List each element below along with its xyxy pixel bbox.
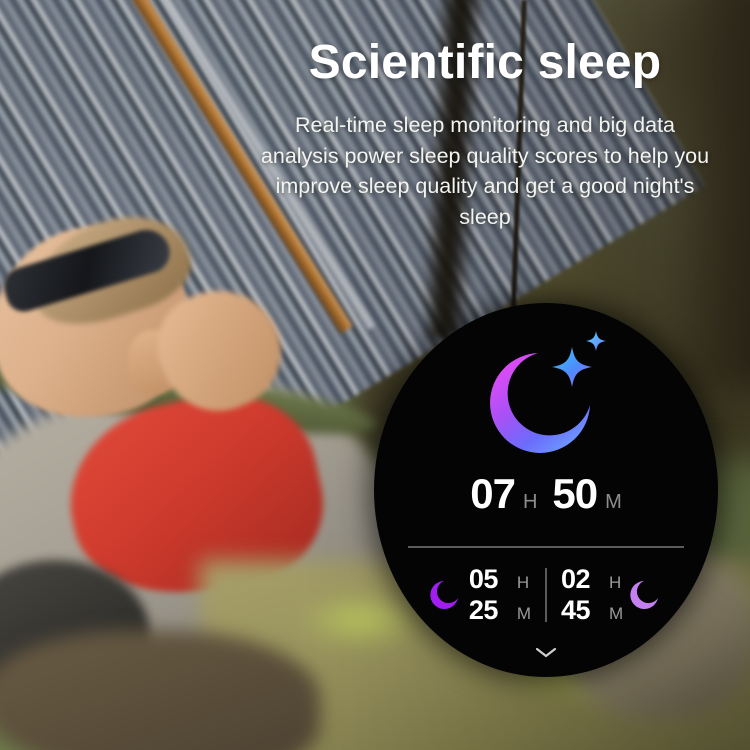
- total-sleep-hours-value: 07: [470, 473, 515, 515]
- deep-sleep-hours-unit: H: [517, 574, 529, 592]
- light-sleep-hours-line: 02 H: [561, 565, 623, 594]
- crescent-moon-with-sparkles-icon: [478, 331, 614, 457]
- light-sleep-values: 02 H 45 M: [561, 565, 623, 625]
- sleep-breakdown: 05 H 25 M 02 H: [374, 565, 718, 625]
- deep-sleep-minutes-value: 25: [469, 596, 511, 625]
- light-sleep-minutes-unit: M: [609, 605, 623, 623]
- deep-sleep-values: 05 H 25 M: [469, 565, 531, 625]
- light-sleep-hours-unit: H: [609, 574, 621, 592]
- chevron-down-icon[interactable]: [535, 647, 557, 658]
- light-sleep-moon-icon: [629, 578, 663, 612]
- light-sleep-hours-value: 02: [561, 565, 603, 594]
- section-divider: [408, 546, 684, 548]
- deep-sleep-minutes-unit: M: [517, 605, 531, 623]
- deep-sleep-hours-line: 05 H: [469, 565, 531, 594]
- total-sleep-minutes-unit: M: [605, 492, 622, 512]
- light-sleep-stat[interactable]: 02 H 45 M: [561, 565, 663, 625]
- deep-sleep-stat[interactable]: 05 H 25 M: [429, 565, 531, 625]
- deep-sleep-minutes-line: 25 M: [469, 596, 531, 625]
- total-sleep-hours-unit: H: [523, 492, 537, 512]
- smartwatch-sleep-screen[interactable]: 07 H 50 M 05 H 25 M: [374, 303, 718, 677]
- deep-sleep-moon-icon: [429, 578, 463, 612]
- light-sleep-minutes-value: 45: [561, 596, 603, 625]
- deep-sleep-hours-value: 05: [469, 565, 511, 594]
- total-sleep-minutes-value: 50: [552, 473, 597, 515]
- promo-banner: Scientific sleep Real-time sleep monitor…: [0, 0, 750, 750]
- stat-divider: [545, 568, 547, 622]
- light-sleep-minutes-line: 45 M: [561, 596, 623, 625]
- total-sleep-duration: 07 H 50 M: [374, 473, 718, 515]
